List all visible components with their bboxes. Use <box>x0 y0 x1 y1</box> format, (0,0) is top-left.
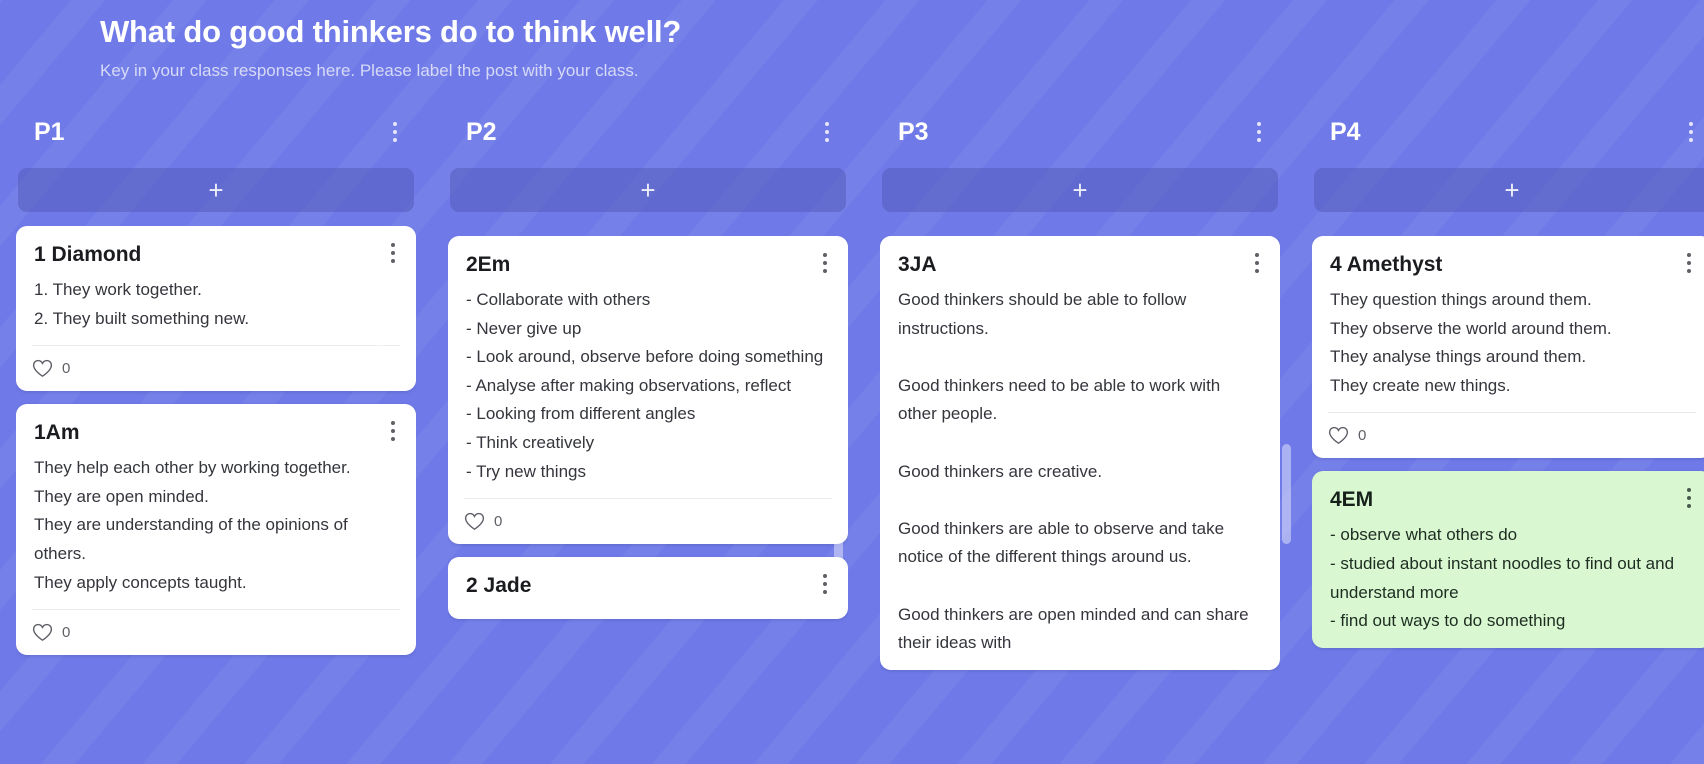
column-scrollbar-p2[interactable] <box>834 472 843 578</box>
heart-icon[interactable] <box>32 623 53 642</box>
column-menu-icon[interactable] <box>1680 119 1702 145</box>
column-title: P1 <box>34 118 65 147</box>
card-list-p1: 1 Diamond 1. They work together. 2. They… <box>16 226 416 764</box>
card-menu-icon[interactable] <box>1678 485 1700 511</box>
add-card-button-p2[interactable]: + <box>450 168 846 212</box>
column-title: P4 <box>1330 118 1361 147</box>
card-menu-icon[interactable] <box>1246 250 1268 276</box>
column-header-p2: P2 <box>448 96 848 168</box>
card[interactable]: 2 Jade <box>448 557 848 619</box>
column-title: P3 <box>898 118 929 147</box>
board-column-p3: P3 + 3JA Good thinkers should be able to… <box>864 96 1296 764</box>
heart-icon[interactable] <box>464 512 485 531</box>
card[interactable]: 4 Amethyst They question things around t… <box>1312 236 1704 458</box>
column-header-p1: P1 <box>16 96 416 168</box>
like-count: 0 <box>1358 427 1366 444</box>
card-footer: 0 <box>32 345 400 391</box>
board-columns: P1 + 1 Diamond 1. They work together. 2.… <box>0 96 1704 764</box>
card-title: 1Am <box>34 418 398 448</box>
card-menu-icon[interactable] <box>382 418 404 444</box>
add-card-button-p3[interactable]: + <box>882 168 1278 212</box>
column-header-p4: P4 <box>1312 96 1704 168</box>
board-column-p2: P2 + 2Em - Collaborate with others - Nev… <box>432 96 864 764</box>
like-count: 0 <box>62 624 70 641</box>
like-count: 0 <box>62 360 70 377</box>
plus-icon: + <box>640 177 655 203</box>
add-card-button-p1[interactable]: + <box>18 168 414 212</box>
add-card-button-p4[interactable]: + <box>1314 168 1704 212</box>
card-menu-icon[interactable] <box>814 250 836 276</box>
card-list-p2: 2Em - Collaborate with others - Never gi… <box>448 236 848 764</box>
board-column-p4: P4 + 4 Amethyst They question things aro… <box>1296 96 1704 764</box>
card-list-p3: 3JA Good thinkers should be able to foll… <box>880 236 1280 764</box>
column-menu-icon[interactable] <box>816 119 838 145</box>
card-title: 4 Amethyst <box>1330 250 1694 280</box>
card-body: - observe what others do - studied about… <box>1330 521 1694 647</box>
column-title: P2 <box>466 118 497 147</box>
card-menu-icon[interactable] <box>1678 250 1700 276</box>
card[interactable]: 3JA Good thinkers should be able to foll… <box>880 236 1280 670</box>
card[interactable]: 4EM - observe what others do - studied a… <box>1312 471 1704 647</box>
card-body: 1. They work together. 2. They built som… <box>34 276 398 345</box>
card-menu-icon[interactable] <box>814 571 836 597</box>
like-count: 0 <box>494 513 502 530</box>
column-menu-icon[interactable] <box>384 119 406 145</box>
page-title: What do good thinkers do to think well? <box>100 6 1704 58</box>
plus-icon: + <box>1072 177 1087 203</box>
heart-icon[interactable] <box>1328 426 1349 445</box>
column-scrollbar-p4[interactable] <box>1282 444 1291 544</box>
card-title: 1 Diamond <box>34 240 398 270</box>
column-scrollbar-p1[interactable] <box>375 268 384 364</box>
card-footer: 0 <box>464 498 832 544</box>
card-title: 3JA <box>898 250 1262 280</box>
card[interactable]: 2Em - Collaborate with others - Never gi… <box>448 236 848 544</box>
plus-icon: + <box>1504 177 1519 203</box>
card-title: 4EM <box>1330 485 1694 515</box>
card[interactable]: 1Am They help each other by working toge… <box>16 404 416 655</box>
page-subtitle: Key in your class responses here. Please… <box>100 58 1704 84</box>
board-column-p1: P1 + 1 Diamond 1. They work together. 2.… <box>0 96 432 764</box>
card[interactable]: 1 Diamond 1. They work together. 2. They… <box>16 226 416 391</box>
column-menu-icon[interactable] <box>1248 119 1270 145</box>
card-body: They help each other by working together… <box>34 454 398 609</box>
card-footer: 0 <box>1328 412 1696 458</box>
card-footer: 0 <box>32 609 400 655</box>
card-body: Good thinkers should be able to follow i… <box>898 286 1262 670</box>
column-header-p3: P3 <box>880 96 1280 168</box>
card-list-p4: 4 Amethyst They question things around t… <box>1312 236 1704 764</box>
card-title: 2 Jade <box>466 571 830 601</box>
plus-icon: + <box>208 177 223 203</box>
column-scrollbar-p3[interactable] <box>1240 442 1249 542</box>
card-title: 2Em <box>466 250 830 280</box>
board-header: What do good thinkers do to think well? … <box>0 0 1704 96</box>
heart-icon[interactable] <box>32 359 53 378</box>
card-body: They question things around them. They o… <box>1330 286 1694 412</box>
card-body <box>466 607 830 619</box>
card-body: - Collaborate with others - Never give u… <box>466 286 830 498</box>
card-menu-icon[interactable] <box>382 240 404 266</box>
